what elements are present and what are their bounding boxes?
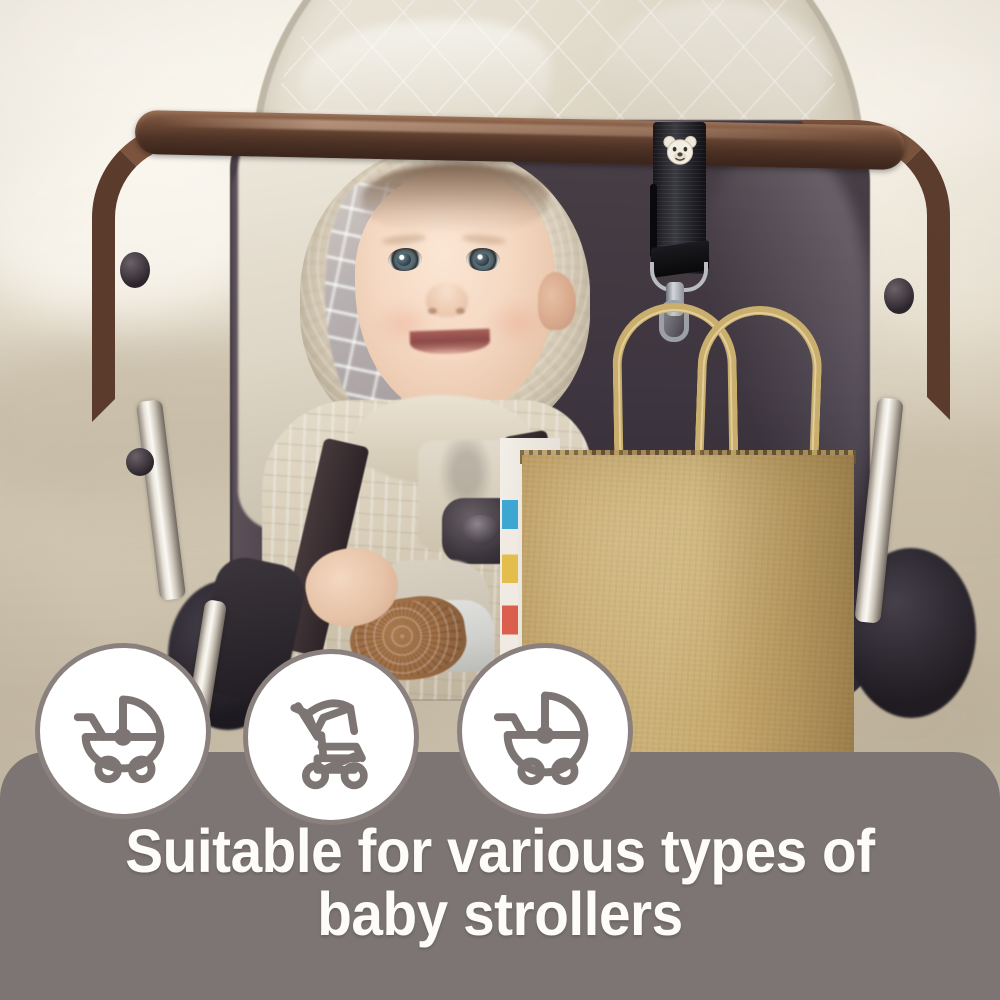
handlebar-joint-left xyxy=(120,252,150,288)
caption-text: Suitable for various types of baby strol… xyxy=(35,820,965,946)
baby-chin-highlight xyxy=(404,347,496,363)
caption-line-1: Suitable for various types of xyxy=(35,820,965,883)
stroller-type-badges xyxy=(0,646,1000,816)
teddy-bear-patch-icon xyxy=(662,134,698,168)
badge-pram-classic xyxy=(40,648,206,814)
badge-stroller-reclining xyxy=(248,654,414,820)
caption-line-2: baby strollers xyxy=(35,883,965,946)
stroller-reclining-icon xyxy=(273,679,389,795)
badge-pram-bassinet xyxy=(462,648,628,814)
harness-buckle-button xyxy=(462,515,500,545)
bag-handle-right xyxy=(694,304,824,468)
product-image-canvas: Suitable for various types of baby strol… xyxy=(0,0,1000,1000)
baby-nostril-right xyxy=(456,308,465,314)
baby-nostril-left xyxy=(428,308,437,314)
baby-hair xyxy=(362,163,548,233)
pram-classic-icon xyxy=(64,672,182,790)
frame-joint xyxy=(126,448,154,476)
handlebar-joint-right xyxy=(884,278,914,314)
handlebar-left-curve xyxy=(92,122,252,422)
pram-bassinet-icon xyxy=(486,672,604,790)
bag-printed-strip xyxy=(502,500,518,660)
